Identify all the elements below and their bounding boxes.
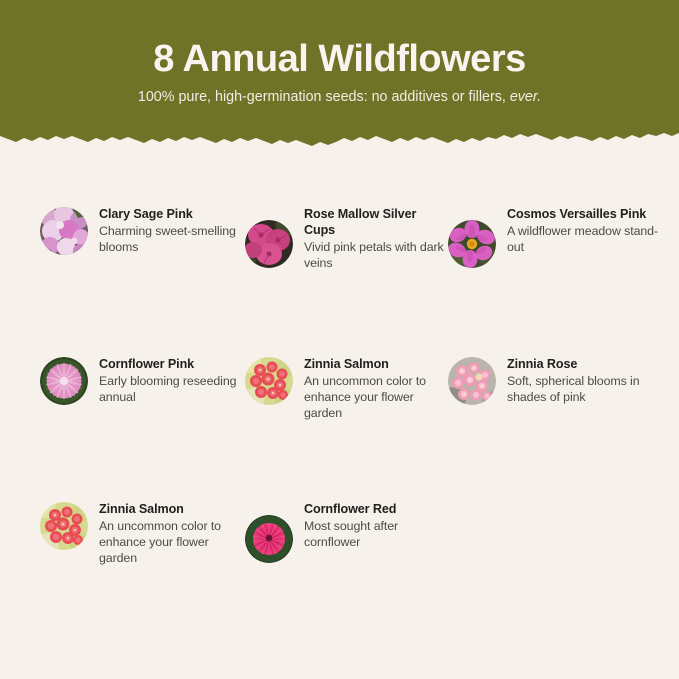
- flower-thumb-clary-sage-pink: [40, 207, 88, 255]
- flower-text-block: Cornflower Pink Early blooming reseeding…: [99, 355, 245, 405]
- flower-item-clary-sage-pink[interactable]: Clary Sage Pink Charming sweet-smelling …: [40, 205, 245, 355]
- flower-item-cornflower-pink[interactable]: Cornflower Pink Early blooming reseeding…: [40, 355, 245, 500]
- flower-text-block: Cornflower Red Most sought after cornflo…: [304, 500, 448, 550]
- flower-thumb-zinnia-rose: [448, 357, 496, 405]
- flower-description: Vivid pink petals with dark veins: [304, 239, 448, 271]
- flower-text-block: Zinnia Salmon An uncommon color to enhan…: [304, 355, 448, 421]
- flower-name: Cosmos Versailles Pink: [507, 206, 673, 222]
- flower-name: Cornflower Pink: [99, 356, 245, 372]
- flower-text-block: Zinnia Salmon An uncommon color to enhan…: [99, 500, 245, 566]
- flower-description: An uncommon color to enhance your flower…: [304, 373, 448, 421]
- subtitle-plain-text: 100% pure, high-germination seeds: no ad…: [138, 89, 510, 105]
- flower-thumb-zinnia-salmon: [245, 357, 293, 405]
- flower-text-block: Zinnia Rose Soft, spherical blooms in sh…: [507, 355, 673, 405]
- flower-row: Cornflower Pink Early blooming reseeding…: [0, 355, 679, 500]
- flower-item-cosmos-versailles-pink[interactable]: Cosmos Versailles Pink A wildflower mead…: [448, 205, 673, 355]
- flower-thumb-cornflower-red: [245, 515, 293, 563]
- flower-description: An uncommon color to enhance your flower…: [99, 518, 245, 566]
- flower-name: Rose Mallow Silver Cups: [304, 206, 448, 238]
- flower-description: A wildflower meadow stand-out: [507, 223, 673, 255]
- flower-name: Zinnia Rose: [507, 356, 673, 372]
- flower-name: Cornflower Red: [304, 501, 448, 517]
- subtitle-emphasis-text: ever.: [510, 89, 541, 105]
- flower-thumb-cornflower-pink: [40, 357, 88, 405]
- flower-item-rose-mallow-silver-cups[interactable]: Rose Mallow Silver Cups Vivid pink petal…: [245, 205, 448, 355]
- header-banner: 8 Annual Wildflowers 100% pure, high-ger…: [0, 0, 679, 160]
- flower-thumb-cosmos-versailles-pink: [448, 220, 496, 268]
- flower-description: Soft, spherical blooms in shades of pink: [507, 373, 673, 405]
- flower-description: Charming sweet-smelling blooms: [99, 223, 245, 255]
- page-subtitle: 100% pure, high-germination seeds: no ad…: [138, 89, 541, 106]
- page-title: 8 Annual Wildflowers: [153, 40, 526, 80]
- flower-text-block: Clary Sage Pink Charming sweet-smelling …: [99, 205, 245, 255]
- flower-text-block: Rose Mallow Silver Cups Vivid pink petal…: [304, 205, 448, 271]
- flower-item-zinnia-salmon-2[interactable]: Zinnia Salmon An uncommon color to enhan…: [40, 500, 245, 620]
- flower-item-zinnia-rose[interactable]: Zinnia Rose Soft, spherical blooms in sh…: [448, 355, 673, 500]
- flower-row: Clary Sage Pink Charming sweet-smelling …: [0, 205, 679, 355]
- flower-thumb-rose-mallow-silver-cups: [245, 220, 293, 268]
- flower-name: Zinnia Salmon: [304, 356, 448, 372]
- flower-thumb-zinnia-salmon: [40, 502, 88, 550]
- flower-grid: Clary Sage Pink Charming sweet-smelling …: [0, 205, 679, 620]
- flower-description: Most sought after cornflower: [304, 518, 448, 550]
- flower-name: Zinnia Salmon: [99, 501, 245, 517]
- flower-description: Early blooming reseeding annual: [99, 373, 245, 405]
- flower-item-zinnia-salmon[interactable]: Zinnia Salmon An uncommon color to enhan…: [245, 355, 448, 500]
- flower-row: Zinnia Salmon An uncommon color to enhan…: [0, 500, 679, 620]
- flower-item-cornflower-red[interactable]: Cornflower Red Most sought after cornflo…: [245, 500, 448, 620]
- flower-text-block: Cosmos Versailles Pink A wildflower mead…: [507, 205, 673, 255]
- flower-name: Clary Sage Pink: [99, 206, 245, 222]
